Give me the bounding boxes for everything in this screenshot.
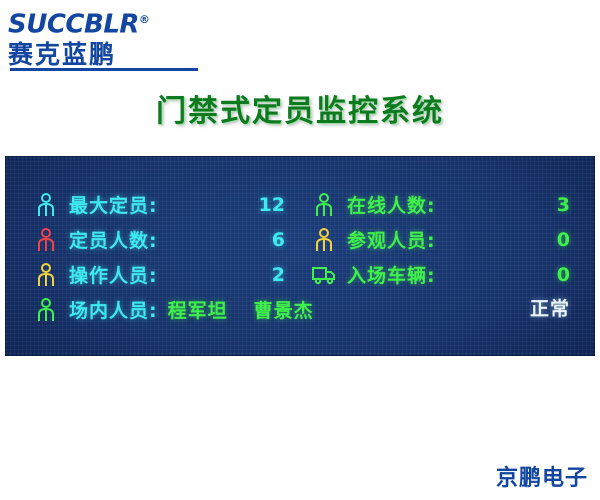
led-field-visitor-count: 参观人员: 0 <box>301 222 595 257</box>
led-field-max-capacity: 最大定员: 12 <box>6 187 301 222</box>
onsite-name-list: 程军坦 曹景杰 <box>168 296 314 323</box>
status-badge: 正常 <box>530 292 570 327</box>
led-field-onsite-personnel: 场内人员: 程军坦 曹景杰 正常 <box>6 292 595 327</box>
logo-latin-text: SUCCBLR® <box>8 6 218 39</box>
led-value: 3 <box>557 194 595 216</box>
person-cyan-icon <box>33 191 59 219</box>
led-row: 最大定员: 12 在线人数: 3 <box>6 187 595 222</box>
trademark-icon: ® <box>139 13 150 26</box>
led-label: 最大定员: <box>69 191 158 218</box>
led-row: 定员人数: 6 参观人员: 0 <box>6 222 595 257</box>
led-display-panel: 最大定员: 12 在线人数: 3 <box>5 156 595 356</box>
led-value: 2 <box>272 264 301 286</box>
list-item: 曹景杰 <box>254 296 314 323</box>
person-green-icon <box>311 191 337 219</box>
led-label: 定员人数: <box>69 226 158 253</box>
logo-chinese-label: 赛克蓝鹏 <box>8 40 218 70</box>
logo-latin-label: SUCCBLR <box>8 10 139 40</box>
led-value: 0 <box>557 264 595 286</box>
company-logo: SUCCBLR® 赛克蓝鹏 <box>8 6 218 68</box>
led-field-quota-count: 定员人数: 6 <box>6 222 301 257</box>
led-value: 6 <box>272 229 301 251</box>
person-yellow-icon <box>311 226 337 254</box>
logo-underline-divider <box>10 68 198 71</box>
person-yellow-icon <box>33 261 59 289</box>
led-field-operator-count: 操作人员: 2 <box>6 257 301 292</box>
led-label: 场内人员: <box>69 296 158 323</box>
truck-green-icon <box>311 261 337 289</box>
footer-brand-label: 京鹏电子 <box>496 460 588 492</box>
page-title: 门禁式定员监控系统 <box>0 86 600 130</box>
led-label: 操作人员: <box>69 261 158 288</box>
person-green-icon <box>33 296 59 324</box>
led-field-online-count: 在线人数: 3 <box>301 187 595 222</box>
person-red-icon <box>33 226 59 254</box>
led-label: 入场车辆: <box>347 261 436 288</box>
led-label: 在线人数: <box>347 191 436 218</box>
led-row: 操作人员: 2 入场车辆: 0 <box>6 257 595 292</box>
led-value: 0 <box>557 229 595 251</box>
led-value: 12 <box>259 194 301 216</box>
led-label: 参观人员: <box>347 226 436 253</box>
led-rows-container: 最大定员: 12 在线人数: 3 <box>6 187 595 327</box>
list-item: 程军坦 <box>168 296 228 323</box>
led-field-vehicle-count: 入场车辆: 0 <box>301 257 595 292</box>
